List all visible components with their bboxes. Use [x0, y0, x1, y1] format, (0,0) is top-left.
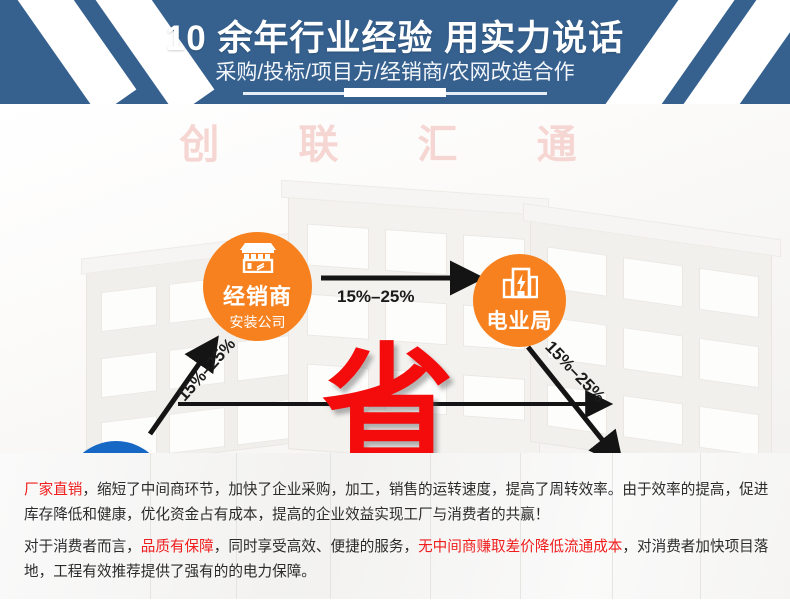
footer-p2-lead: 对于消费者而言， [24, 539, 141, 555]
shop-icon [238, 241, 278, 277]
flow-diagram: 创 联 汇 通 15%–25% 15%–25% 15%–25% 在这里省了中间环… [0, 104, 790, 453]
header-divider-center [344, 88, 446, 97]
footer-paragraph-2: 对于消费者而言，品质有保障，同时享受高效、便捷的服务，无中间商赚取差价降低流通成… [24, 535, 772, 585]
node-power-bureau-label: 电业局 [487, 305, 553, 335]
banner-header: 10 余年行业经验 用实力说话 采购/投标/项目方/经销商/农网改造合作 [0, 0, 790, 104]
power-plant-icon [502, 267, 538, 303]
header-title: 10 余年行业经验 用实力说话 [0, 10, 790, 61]
footer-description: 厂家直销，缩短了中间商环节，加快了企业采购，加工，销售的运转速度，提高了周转效率… [0, 453, 790, 602]
footer-paragraph-1: 厂家直销，缩短了中间商环节，加快了企业采购，加工，销售的运转速度，提高了周转效率… [24, 478, 772, 528]
header-subtitle: 采购/投标/项目方/经销商/农网改造合作 [0, 56, 790, 86]
node-dealer[interactable]: 经销商 安装公司 [203, 232, 312, 341]
footer-p2-mid: ，同时享受高效、便捷的服务， [214, 539, 418, 555]
footer-p2-highlight-1: 品质有保障 [141, 539, 214, 555]
footer-p1-highlight: 厂家直销 [24, 482, 82, 498]
center-savings-glyph: 省 [322, 342, 454, 453]
footer-p1-rest: ，缩短了中间商环节，加快了企业采购，加工，销售的运转速度，提高了周转效率。由于效… [24, 482, 768, 523]
footer-p2-highlight-2: 无中间商赚取差价降低流通成本 [418, 539, 622, 555]
node-dealer-sublabel: 安装公司 [230, 312, 286, 332]
node-dealer-label: 经销商 [223, 279, 292, 311]
node-power-bureau[interactable]: 电业局 [473, 254, 566, 347]
promo-banner: 10 余年行业经验 用实力说话 采购/投标/项目方/经销商/农网改造合作 [0, 0, 790, 602]
arrow-label-dealer-to-power: 15%–25% [337, 287, 415, 307]
